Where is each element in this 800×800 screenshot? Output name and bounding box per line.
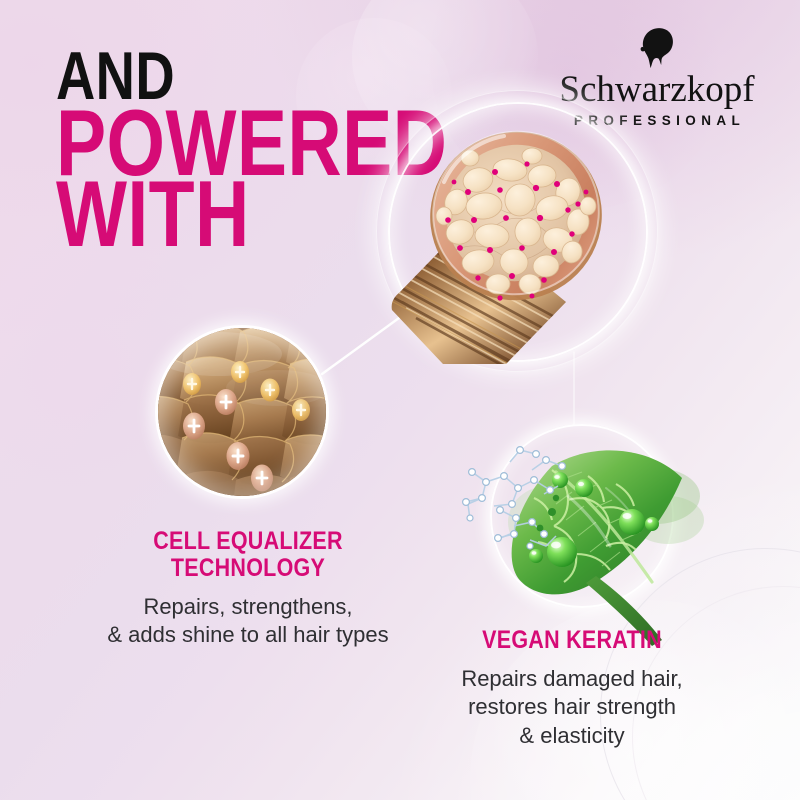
promo-canvas: AND POWERED WITH Schwarzkopf PROFESSIONA… — [0, 0, 800, 800]
cell-equalizer-visual — [150, 320, 334, 504]
cell-equalizer-disc — [158, 328, 326, 496]
schwarzkopf-head-silhouette-icon — [634, 24, 680, 70]
green-leaf-molecule-icon — [456, 400, 716, 650]
vegan-keratin-visual — [484, 418, 676, 610]
hair-fiber-cross-section — [382, 96, 650, 364]
hair-fiber-cross-section-icon — [382, 96, 650, 364]
feature-description: Repairs damaged hair, restores hair stre… — [392, 665, 752, 751]
vegan-keratin-caption: VEGAN KERATIN Repairs damaged hair, rest… — [392, 627, 752, 751]
headline-line-3: WITH — [56, 174, 392, 255]
hair-cuticle-scales-icon — [158, 328, 326, 496]
feature-title: VEGAN KERATIN — [417, 627, 727, 654]
feature-title: CELL EQUALIZER TECHNOLOGY — [67, 528, 428, 582]
